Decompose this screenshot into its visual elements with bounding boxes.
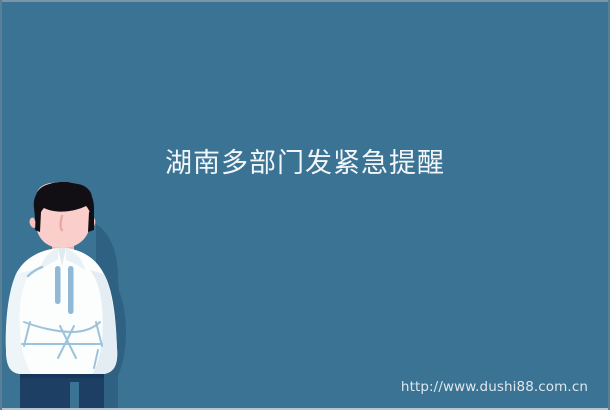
border-top xyxy=(0,0,610,2)
hoodie-man-illustration xyxy=(0,182,150,410)
border-left xyxy=(0,0,2,410)
site-watermark: http://www.dushi88.com.cn xyxy=(401,379,588,395)
poster-canvas: 湖南多部门发紧急提醒 http://www.dushi88.com.cn xyxy=(0,0,610,410)
pants xyxy=(20,368,104,410)
page-title: 湖南多部门发紧急提醒 xyxy=(0,148,610,180)
